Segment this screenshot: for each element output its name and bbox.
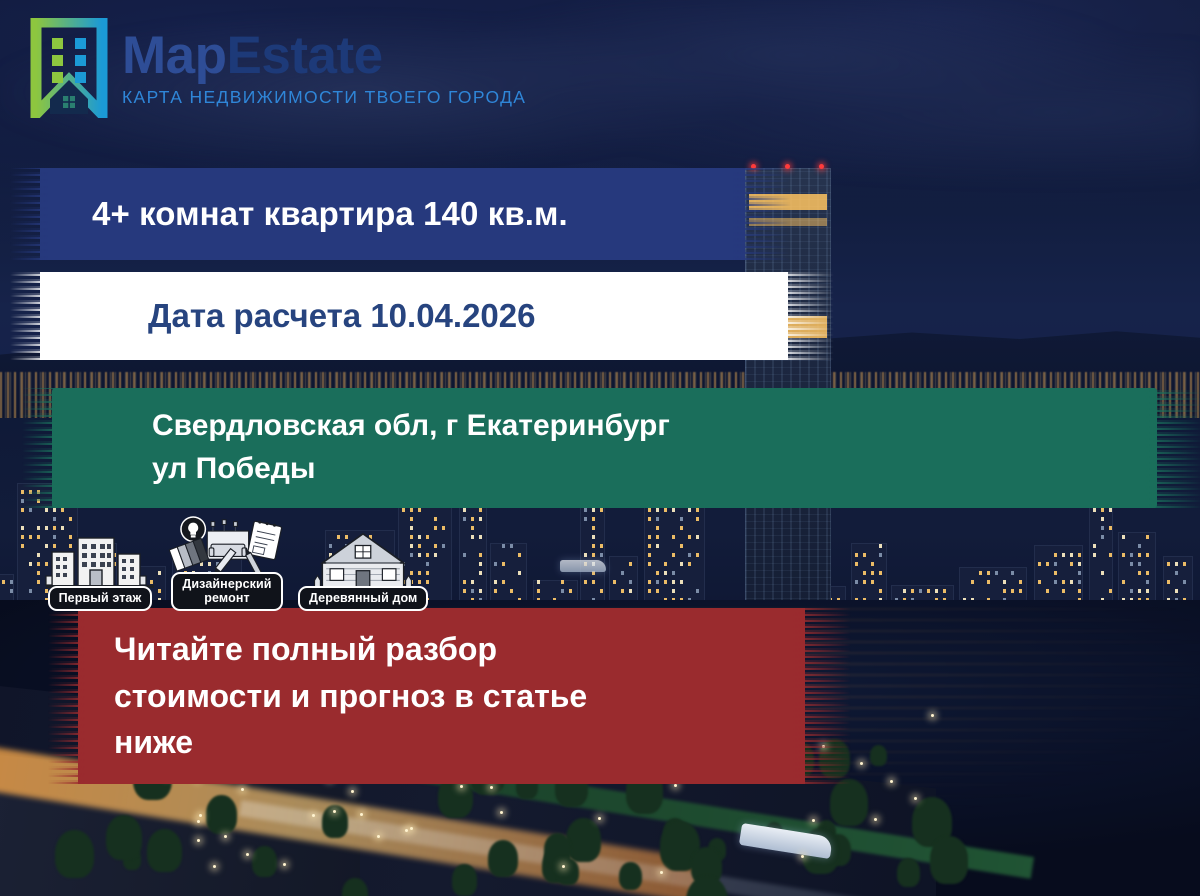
- street-lamp: [562, 865, 565, 868]
- badge-designer-renovation-label: Дизайнерский ремонт: [171, 572, 282, 611]
- street-lamp: [213, 865, 216, 868]
- rooms-area-band: 4+ комнат квартира 140 кв.м.: [40, 168, 745, 260]
- street-lamp: [874, 818, 877, 821]
- address-line-region-city: Свердловская обл, г Екатеринбург: [152, 405, 1157, 448]
- brand-wordmark: MapEstate КАРТА НЕДВИЖИМОСТИ ТВОЕГО ГОРО…: [122, 29, 526, 107]
- street-lamp: [312, 814, 315, 817]
- cta-text: Читайте полный разбор стоимости и прогно…: [78, 626, 805, 765]
- calculation-date-text: Дата расчета 10.04.2026: [40, 297, 788, 335]
- bookmark-building-icon: [30, 18, 108, 118]
- address-band: Свердловская обл, г Екатеринбург ул Побе…: [52, 388, 1157, 508]
- street-lamp: [500, 811, 503, 814]
- street-lamp: [801, 855, 804, 858]
- street-lamp: [410, 827, 413, 830]
- street-lamp: [224, 835, 227, 838]
- street-lamp: [914, 797, 917, 800]
- brand-name-estate: Estate: [227, 26, 383, 85]
- address-text: Свердловская обл, г Екатеринбург ул Побе…: [52, 405, 1157, 490]
- design-renovation-icon: [162, 516, 292, 578]
- badge-wooden-house[interactable]: Деревянный дом: [298, 530, 428, 610]
- street-lamp: [333, 810, 336, 813]
- street-lamp: [860, 762, 863, 765]
- street-lamp: [490, 786, 493, 789]
- badge-wooden-house-label: Деревянный дом: [298, 586, 428, 610]
- street-lamp: [197, 820, 200, 823]
- street-lamp: [241, 788, 244, 791]
- brand-logo[interactable]: MapEstate КАРТА НЕДВИЖИМОСТИ ТВОЕГО ГОРО…: [30, 18, 526, 118]
- street-lamp: [931, 714, 934, 717]
- badge-first-floor[interactable]: Первый этаж: [44, 530, 156, 610]
- street-lamp: [660, 871, 663, 874]
- badge-designer-renovation[interactable]: Дизайнерский ремонт: [162, 516, 292, 611]
- street-lamp: [246, 853, 249, 856]
- street-lamp: [812, 819, 815, 822]
- street-lamp: [674, 784, 677, 787]
- street-lamp: [360, 813, 363, 816]
- rooms-area-text: 4+ комнат квартира 140 кв.м.: [40, 195, 745, 233]
- wooden-house-icon: [311, 530, 415, 592]
- badge-first-floor-label: Первый этаж: [48, 586, 153, 610]
- street-lamp: [405, 829, 408, 832]
- street-lamp: [351, 790, 354, 793]
- cta-line-2: стоимости и прогноз в статье: [114, 673, 805, 719]
- brand-name-map: Map: [122, 26, 227, 85]
- street-lamp: [598, 817, 601, 820]
- street-lamp: [460, 785, 463, 788]
- street-lamp: [890, 780, 893, 783]
- apartment-buildings-icon: [44, 530, 156, 592]
- address-line-street: ул Победы: [152, 448, 1157, 491]
- brand-name: MapEstate: [122, 29, 526, 82]
- calculation-date-band: Дата расчета 10.04.2026: [40, 272, 788, 360]
- street-lamp: [197, 839, 200, 842]
- feature-badges: Первый этаж: [44, 516, 428, 611]
- brand-tagline: КАРТА НЕДВИЖИМОСТИ ТВОЕГО ГОРОДА: [122, 89, 526, 107]
- promo-poster: MapEstate КАРТА НЕДВИЖИМОСТИ ТВОЕГО ГОРО…: [0, 0, 1200, 896]
- cta-line-1: Читайте полный разбор: [114, 626, 805, 672]
- street-lamp: [283, 863, 286, 866]
- cta-line-3: ниже: [114, 719, 805, 765]
- street-lamp: [377, 835, 380, 838]
- cta-band[interactable]: Читайте полный разбор стоимости и прогно…: [78, 608, 805, 784]
- street-lamp: [199, 814, 202, 817]
